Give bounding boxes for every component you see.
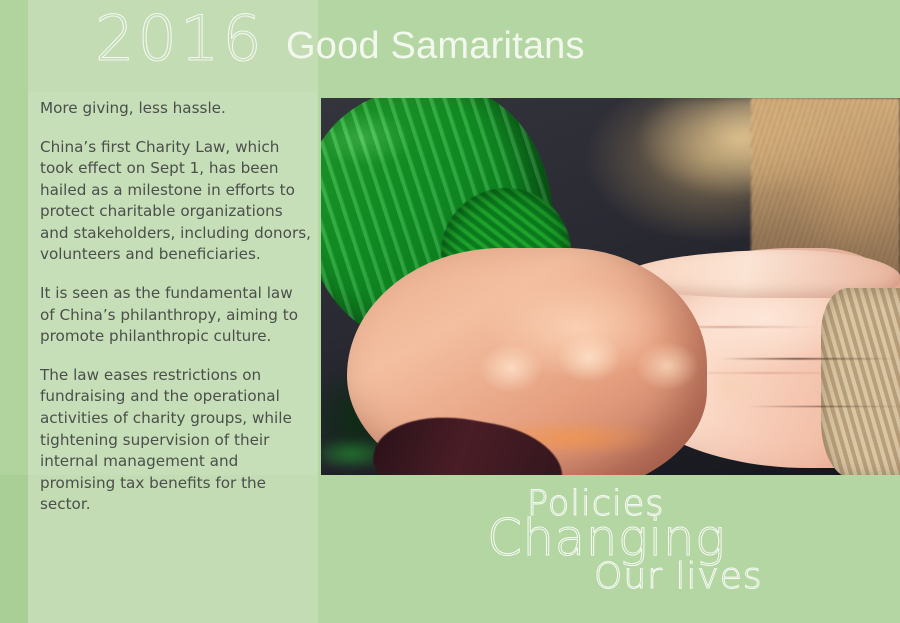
photo-loose-strand-2 (741, 388, 900, 458)
article-paragraph-2: China’s first Charity Law, which took ef… (40, 137, 312, 266)
year-watermark: 2016 (95, 8, 265, 70)
article-body: More giving, less hassle. China’s first … (40, 98, 312, 516)
poster-canvas: 2016 Good Samaritans More giving, less h… (0, 0, 900, 623)
page-title: Good Samaritans (286, 26, 585, 68)
feature-photo (321, 98, 900, 475)
article-paragraph-1: More giving, less hassle. (40, 98, 312, 120)
footer-script-lettering: Policies Changing Our lives (470, 487, 870, 607)
article-paragraph-3: It is seen as the fundamental law of Chi… (40, 283, 312, 348)
article-paragraph-4: The law eases restrictions on fundraisin… (40, 365, 312, 516)
year-watermark-text: 2016 (95, 2, 265, 75)
background-lower-left-band (0, 475, 28, 623)
footer-script-line-3: Our lives (594, 559, 763, 595)
